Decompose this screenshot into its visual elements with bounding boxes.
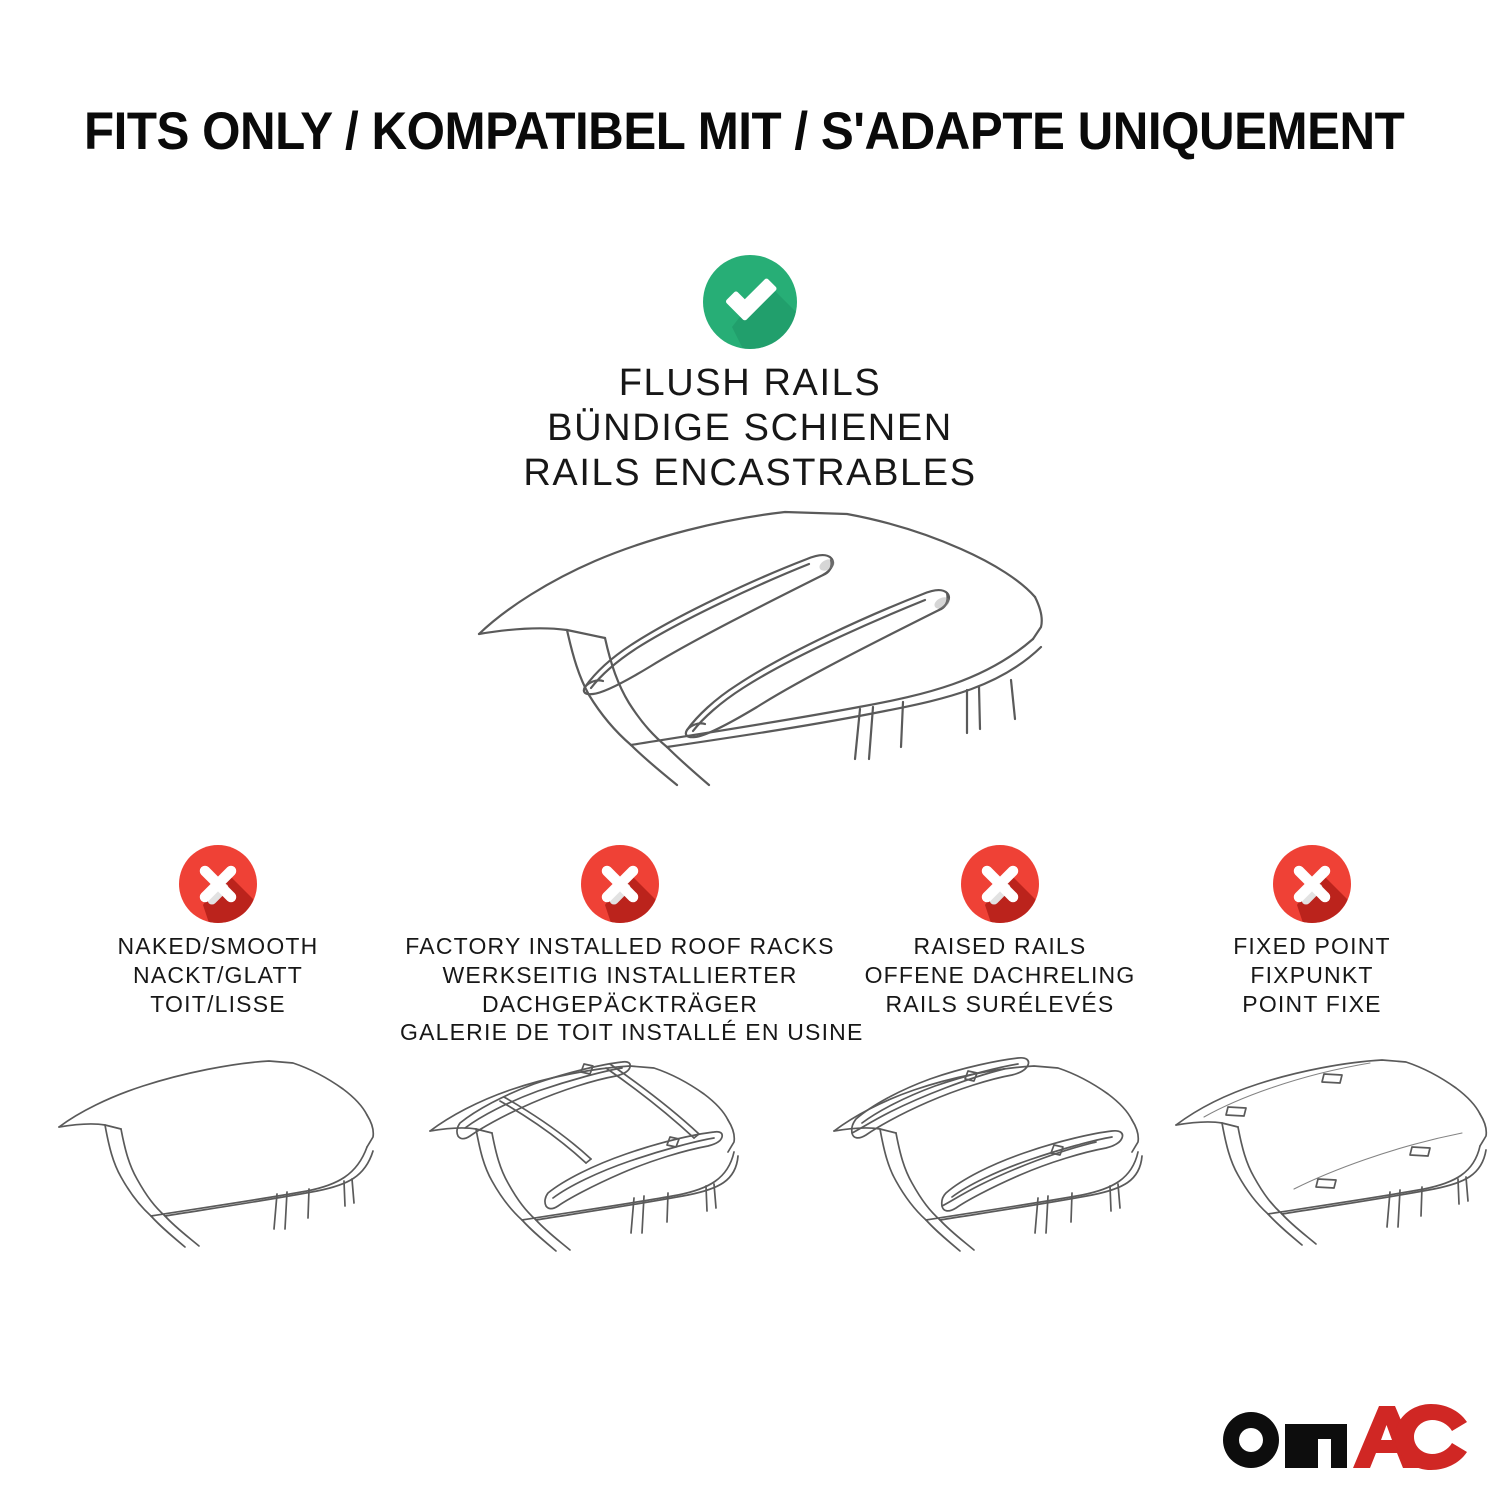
label-line-fr: TOIT/LISSE [38,990,398,1019]
compatible-label: FLUSH RAILS BÜNDIGE SCHIENEN RAILS ENCAS… [0,361,1500,495]
label-line-en: FIXED POINT [1162,932,1462,961]
compatible-label-line-en: FLUSH RAILS [0,361,1500,406]
label-line-de: NACKT/GLATT [38,961,398,990]
x-circle-icon [581,845,659,923]
check-circle-icon [703,255,797,349]
label-line-de-1: WERKSEITIG INSTALLIERTER [400,961,840,990]
incompatible-label: FIXED POINT FIXPUNKT POINT FIXE [1162,932,1462,1018]
label-line-fr: RAILS SURÉLEVÉS [840,990,1160,1019]
label-line-de: OFFENE DACHRELING [840,961,1160,990]
logo-letter-c [1395,1404,1467,1470]
compatible-label-line-de: BÜNDIGE SCHIENEN [0,406,1500,451]
logo-letter-m [1285,1424,1347,1468]
incompatible-item-fixed-point: FIXED POINT FIXPUNKT POINT FIXE [1162,845,1462,1018]
label-line-fr: POINT FIXE [1162,990,1462,1019]
incompatible-label: NAKED/SMOOTH NACKT/GLATT TOIT/LISSE [38,932,398,1018]
incompatible-label: RAISED RAILS OFFENE DACHRELING RAILS SUR… [840,932,1160,1018]
car-roof-raised-rails-illustration [818,1055,1168,1270]
label-line-fr: GALERIE DE TOIT INSTALLÉ EN USINE [400,1018,840,1047]
incompatible-item-factory-roof-racks: FACTORY INSTALLED ROOF RACKS WERKSEITIG … [400,845,840,1047]
compatible-section: FLUSH RAILS BÜNDIGE SCHIENEN RAILS ENCAS… [0,255,1500,495]
label-line-en: NAKED/SMOOTH [38,932,398,961]
page-title: FITS ONLY / KOMPATIBEL MIT / S'ADAPTE UN… [84,104,1330,160]
incompatible-item-naked-smooth: NAKED/SMOOTH NACKT/GLATT TOIT/LISSE [38,845,398,1018]
label-line-en: FACTORY INSTALLED ROOF RACKS [400,932,840,961]
car-roof-naked-smooth-illustration [55,1055,385,1270]
x-circle-icon [179,845,257,923]
incompatible-label: FACTORY INSTALLED ROOF RACKS WERKSEITIG … [400,932,840,1047]
omac-logo [1219,1404,1469,1470]
car-roof-factory-roof-racks-illustration [418,1055,768,1270]
x-circle-icon [961,845,1039,923]
x-circle-icon [1273,845,1351,923]
car-roof-flush-rails-illustration [455,497,1065,797]
incompatible-item-raised-rails: RAISED RAILS OFFENE DACHRELING RAILS SUR… [840,845,1160,1018]
label-line-de-2: DACHGEPÄCKTRÄGER [400,990,840,1019]
label-line-de: FIXPUNKT [1162,961,1462,990]
logo-letter-o [1223,1412,1279,1468]
label-line-en: RAISED RAILS [840,932,1160,961]
compatible-label-line-fr: RAILS ENCASTRABLES [0,451,1500,496]
car-roof-fixed-point-illustration [1168,1055,1498,1270]
